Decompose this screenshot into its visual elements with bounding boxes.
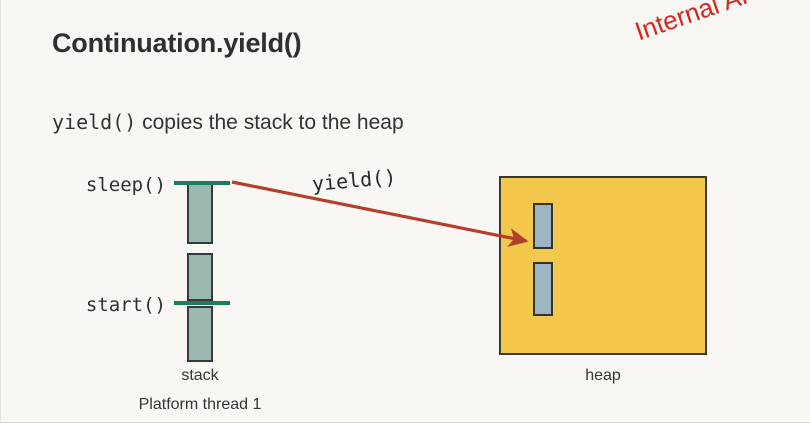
internal-api-stamp: Internal API <box>631 0 768 47</box>
heap-box <box>499 176 707 355</box>
subtitle: yield() copies the stack to the heap <box>52 110 404 135</box>
stack-frame-label-start: start() <box>1 294 166 316</box>
heap-caption: heap <box>553 367 653 385</box>
subtitle-code: yield() <box>52 110 136 134</box>
yield-arrow-label: yield() <box>311 165 397 196</box>
stack-frame-block <box>187 306 213 362</box>
stack-divider-start <box>174 301 230 305</box>
stack-caption: stack <box>150 367 250 385</box>
stack-divider-sleep <box>174 181 230 185</box>
platform-thread-caption: Platform thread 1 <box>100 396 300 414</box>
heap-frame-block <box>533 203 553 249</box>
page-title: Continuation.yield() <box>52 28 301 59</box>
heap-frame-block <box>533 262 553 316</box>
subtitle-text: copies the stack to the heap <box>136 111 403 134</box>
stack-frame-block <box>187 183 213 244</box>
slide-canvas: Continuation.yield() Internal API yield(… <box>0 0 810 423</box>
stack-frame-label-sleep: sleep() <box>1 174 166 196</box>
stack-frame-block <box>187 253 213 301</box>
